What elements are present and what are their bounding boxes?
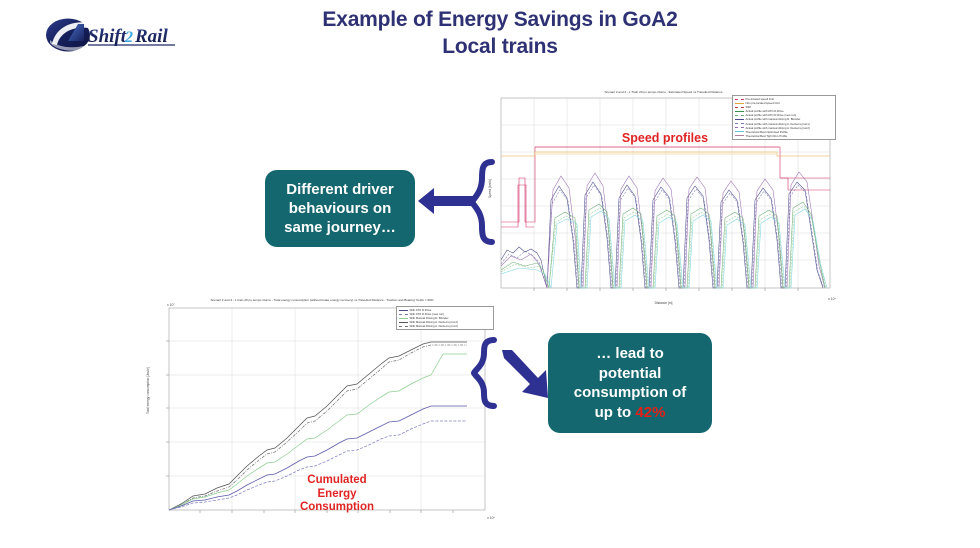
legend-swatch [399,314,408,315]
potential-consumption-callout: … lead to potential consumption of up to… [548,333,712,433]
callout2-line3: consumption of [574,383,687,403]
legend-swatch [399,326,408,327]
shift2rail-logo: Shift 2 Rail [44,14,180,56]
speed-chart-legend: Pre-located speed limit Non pre-located … [732,95,836,140]
legend-swatch [399,322,408,323]
logo-text-shift: Shift [88,26,127,47]
legend-label: Theoretical Best Tight Run Profile [746,134,788,138]
callout2-line4-prefix: up to [595,404,636,421]
logo-text-rail: Rail [134,26,168,47]
legend-swatch [735,99,744,100]
bottom-brace-icon [472,338,498,408]
legend-swatch [735,115,744,116]
callout2-line4: up to 42% [574,403,687,423]
cumulated-line1: Cumulated [272,474,402,488]
legend-swatch [735,127,744,128]
left-arrow-icon [416,186,476,216]
callout1-line3: same journey… [284,218,396,237]
diagonal-arrow-icon [498,348,554,400]
energy-chart-ylabel: Total energy consumption [Joule] [146,367,150,414]
top-brace-icon [470,160,496,244]
legend-swatch [399,310,408,311]
legend-swatch [735,131,744,132]
energy-chart-legend: With ATO D.Drive With ATO D.Drive (new r… [396,306,494,330]
page-title: Example of Energy Savings in GoA2 Local … [230,6,770,60]
logo-text-2: 2 [124,29,133,46]
legend-swatch [735,135,744,136]
energy-chart-x-exponent: x 10⁴ [487,516,495,520]
legend-swatch [735,103,744,104]
legend-swatch [735,123,744,124]
cumulated-line3: Consumption [272,501,402,515]
legend-item: With Manual Driving A. Declercq (run2) [399,324,491,328]
callout1-line1: Different driver [284,180,396,199]
callout2-line2: potential [574,364,687,384]
speed-profile-chart: Scenari 2 and 4 - L Train 20 pu tempo ri… [489,90,838,305]
legend-swatch [735,111,744,112]
legend-swatch [735,119,744,120]
legend-item: Theoretical Best Tight Run Profile [735,134,833,138]
different-driver-behaviours-callout: Different driver behaviours on same jour… [265,170,415,247]
callout1-line2: behaviours on [284,199,396,218]
legend-label: With Manual Driving A. Declercq (run2) [410,324,458,328]
speed-chart-xlabel: Distance [m] [489,301,838,305]
callout2-line1: … lead to [574,344,687,364]
page-title-line2: Local trains [230,33,770,60]
savings-percentage: 42% [635,404,665,421]
page-title-line1: Example of Energy Savings in GoA2 [230,6,770,33]
energy-chart-y-exponent: x 10⁷ [167,303,175,307]
speed-profiles-annotation: Speed profiles [600,131,730,146]
legend-swatch [735,107,744,108]
cumulated-line2: Energy [272,488,402,502]
legend-swatch [399,318,408,319]
cumulated-energy-annotation: Cumulated Energy Consumption [272,474,402,515]
